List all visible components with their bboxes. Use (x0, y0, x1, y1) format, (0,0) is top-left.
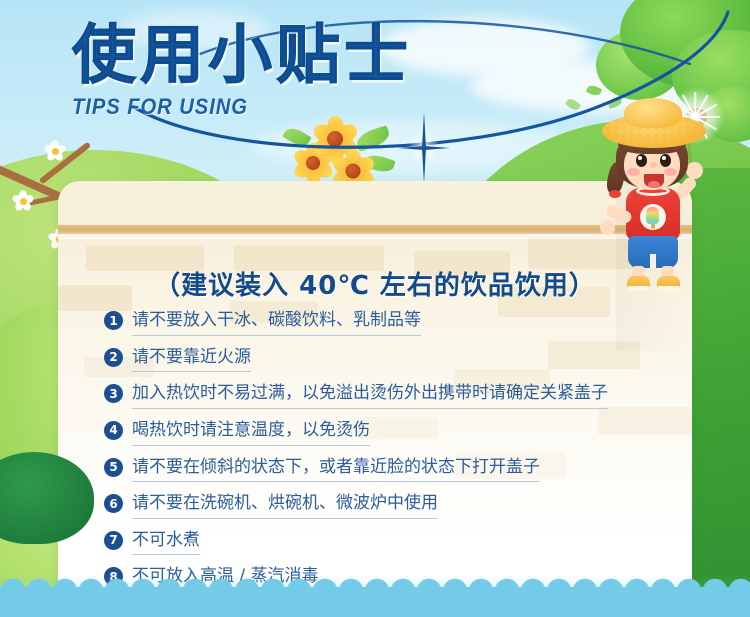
list-item: 3 加入热饮时不易过满，以免溢出烫伤外出携带时请确定关紧盖子 (104, 381, 669, 409)
list-item: 6 请不要在洗碗机、烘碗机、微波炉中使用 (104, 491, 669, 519)
page-subtitle: TIPS FOR USING (72, 94, 385, 120)
girl-mouth (644, 174, 664, 188)
list-item-number: 2 (104, 348, 123, 367)
card-heading: （建议装入 40℃ 左右的饮品饮用） (58, 265, 692, 302)
list-item: 4 喝热饮时请注意温度，以免烫伤 (104, 418, 669, 446)
list-item: 2 请不要靠近火源 (104, 345, 669, 373)
girl-left-hand (600, 220, 615, 235)
list-item-text: 请不要放入干冰、碳酸饮料、乳制品等 (132, 308, 421, 336)
page-title: 使用小贴士 (72, 24, 412, 88)
list-item-number: 4 (104, 421, 123, 440)
daisy-flower-icon (12, 190, 34, 212)
girl-cheek (627, 168, 640, 176)
banner-title-group: 使用小贴士 TIPS FOR USING (72, 24, 412, 120)
popsicle-icon (646, 207, 659, 224)
list-item-number: 3 (104, 384, 123, 403)
list-item-number: 1 (104, 311, 123, 330)
list-item-text: 请不要靠近火源 (132, 345, 251, 373)
list-item: 5 请不要在倾斜的状态下，或者靠近脸的状态下打开盖子 (104, 455, 669, 483)
card-divider-stripe (58, 225, 692, 234)
girl-nose (650, 162, 657, 168)
list-item-number: 7 (104, 531, 123, 550)
leaf (354, 125, 392, 152)
girl-shoe-sole-left (627, 286, 650, 291)
girl-hair-tie (609, 190, 621, 198)
tips-list: 1 请不要放入干冰、碳酸饮料、乳制品等 2 请不要靠近火源 3 加入热饮时不易过… (104, 308, 669, 593)
list-item-number: 5 (104, 458, 123, 477)
list-item: 7 不可水煮 (104, 528, 669, 556)
cartoon-girl (600, 96, 708, 296)
daisy-flower-icon (44, 140, 66, 162)
girl-right-hand (686, 162, 703, 179)
list-item-text: 不可水煮 (132, 528, 200, 556)
popsicle-stick (651, 223, 655, 229)
list-item-text: 请不要在倾斜的状态下，或者靠近脸的状态下打开盖子 (132, 455, 540, 483)
tips-card: （建议装入 40℃ 左右的饮品饮用） 1 请不要放入干冰、碳酸饮料、乳制品等 2… (58, 181, 692, 593)
girl-cheek (664, 168, 677, 176)
list-item-text: 喝热饮时请注意温度，以免烫伤 (132, 418, 370, 446)
list-item: 1 请不要放入干冰、碳酸饮料、乳制品等 (104, 308, 669, 336)
sparkle-star-icon (398, 112, 450, 184)
girl-eye-highlight (662, 156, 666, 160)
girl-shorts-gap (650, 254, 656, 268)
list-item-text: 加入热饮时不易过满，以免溢出烫伤外出携带时请确定关紧盖子 (132, 381, 608, 409)
promo-banner: 使用小贴士 TIPS FOR USING （建议装入 40℃ 左右的饮品饮用） … (0, 0, 750, 617)
water-band (0, 587, 750, 617)
list-item-number: 6 (104, 494, 123, 513)
girl-eye-highlight (638, 156, 642, 160)
list-item-text: 请不要在洗碗机、烘碗机、微波炉中使用 (132, 491, 438, 519)
straw-hat-crown (624, 98, 682, 128)
girl-shoe-sole-right (657, 286, 680, 291)
